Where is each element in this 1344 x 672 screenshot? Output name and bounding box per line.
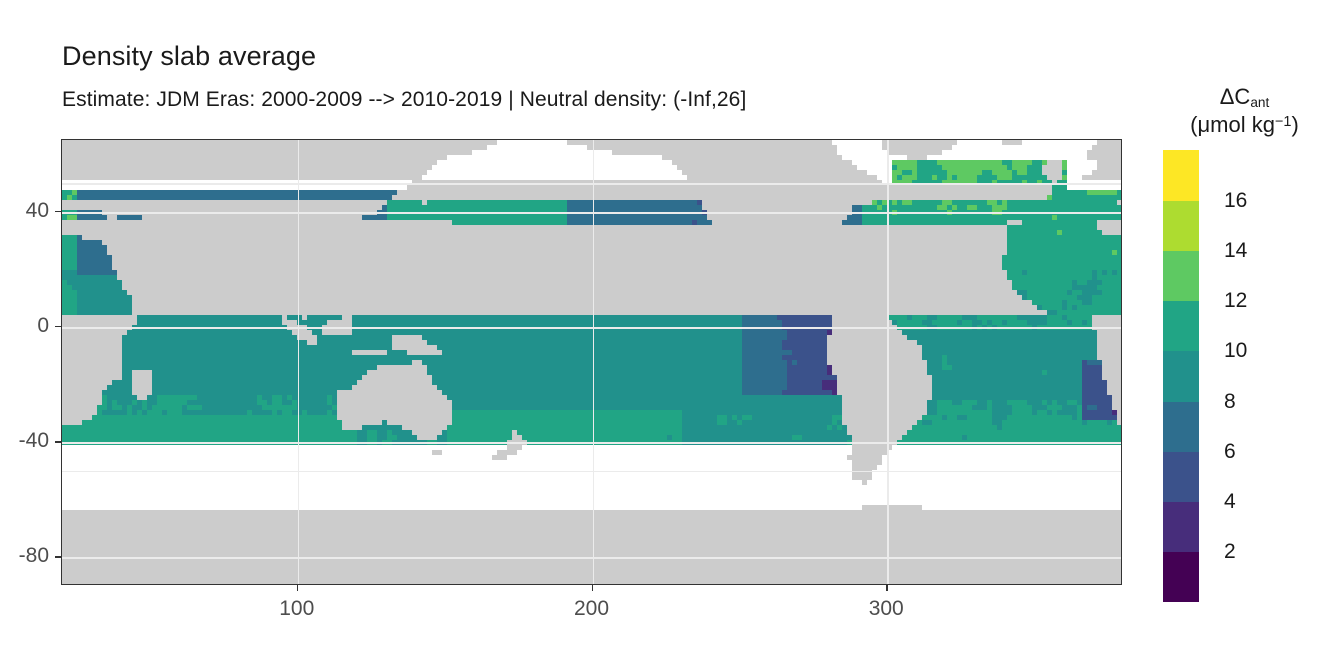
- legend-units-post: ): [1292, 112, 1299, 137]
- colorbar-band: [1163, 301, 1199, 351]
- x-tick-label: 200: [574, 597, 609, 621]
- y-tick-mark: [55, 556, 61, 557]
- y-tick-label: -80: [3, 544, 49, 568]
- ocean-raster-map: [62, 140, 1122, 585]
- y-tick-mark: [55, 211, 61, 212]
- colorbar-band: [1163, 402, 1199, 452]
- y-tick-label: 0: [3, 314, 49, 338]
- colorbar: [1163, 150, 1199, 602]
- legend-title: ΔCant (μmol kg−1): [1152, 84, 1337, 138]
- x-tick-mark: [886, 585, 887, 591]
- page-title: Density slab average: [62, 41, 316, 72]
- colorbar-band: [1163, 552, 1199, 602]
- colorbar-band: [1163, 150, 1199, 200]
- legend: ΔCant (μmol kg−1) 161412108642: [1152, 84, 1337, 602]
- legend-title-main: ΔC: [1220, 84, 1251, 109]
- legend-body: 161412108642: [1152, 150, 1337, 602]
- colorbar-label: 4: [1224, 490, 1236, 514]
- y-tick-mark: [55, 326, 61, 327]
- colorbar-band: [1163, 351, 1199, 401]
- colorbar-label: 2: [1224, 540, 1236, 564]
- page-subtitle: Estimate: JDM Eras: 2000-2009 --> 2010-2…: [62, 88, 746, 112]
- y-tick-label: -40: [3, 429, 49, 453]
- colorbar-band: [1163, 452, 1199, 502]
- plot-root: Density slab average Estimate: JDM Eras:…: [0, 0, 1344, 672]
- y-tick-label: 40: [3, 199, 49, 223]
- x-tick-mark: [592, 585, 593, 591]
- x-tick-label: 100: [279, 597, 314, 621]
- legend-units-sup: −1: [1275, 114, 1292, 130]
- colorbar-band: [1163, 502, 1199, 552]
- colorbar-label: 16: [1224, 189, 1247, 213]
- y-tick-mark: [55, 441, 61, 442]
- map-panel: [61, 139, 1122, 585]
- colorbar-label: 6: [1224, 440, 1236, 464]
- colorbar-band: [1163, 251, 1199, 301]
- x-tick-label: 300: [869, 597, 904, 621]
- colorbar-label: 10: [1224, 339, 1247, 363]
- colorbar-label: 14: [1224, 239, 1247, 263]
- legend-units-pre: (μmol kg: [1190, 112, 1275, 137]
- colorbar-band: [1163, 201, 1199, 251]
- colorbar-label: 8: [1224, 390, 1236, 414]
- legend-title-sub: ant: [1250, 95, 1269, 110]
- x-tick-mark: [297, 585, 298, 591]
- colorbar-labels: 161412108642: [1210, 150, 1280, 602]
- colorbar-label: 12: [1224, 289, 1247, 313]
